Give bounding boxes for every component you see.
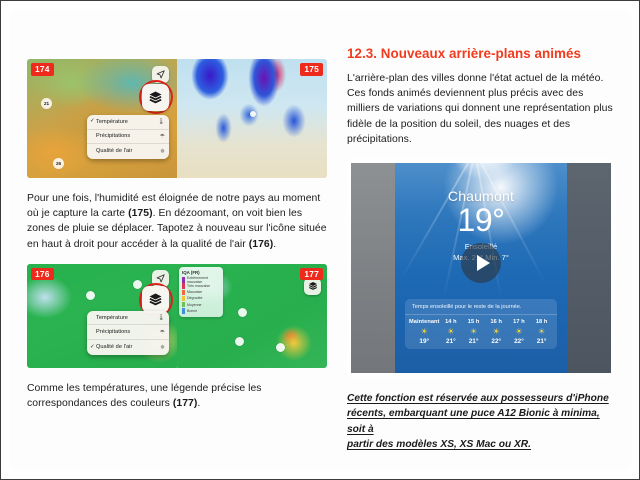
- map-temperature-panel: 21 26 ✓: [27, 59, 177, 178]
- forecast-note: Temps ensoleillé pour le reste de la jou…: [405, 304, 557, 315]
- forecast-hour-temp: 19°: [409, 338, 440, 345]
- sun-icon: ☀: [440, 325, 463, 338]
- figure-temperature-map[interactable]: 21 26 ✓: [27, 59, 327, 178]
- forecast-hour: 18 h ☀ 21°: [530, 319, 553, 345]
- page-frame: 21 26 ✓: [0, 0, 640, 480]
- play-button[interactable]: [461, 243, 501, 283]
- layers-icon: [148, 292, 163, 307]
- compatibility-note: Cette fonction est réservée aux possesse…: [347, 391, 615, 453]
- legend-swatch: [182, 290, 185, 295]
- section-intro-paragraph: L'arrière-plan des villes donne l'état a…: [347, 71, 615, 147]
- video-letterbox-right: [567, 163, 611, 373]
- forecast-hour-temp: 21°: [440, 338, 463, 345]
- figure-air-quality-map[interactable]: Température 🌡 Précipitations ☂ ✓ Qualité…: [27, 264, 327, 368]
- forecast-hour: 16 h ☀ 22°: [485, 319, 508, 345]
- layer-menu-item-precipitations[interactable]: Précipitations ☂: [87, 130, 169, 145]
- layer-menu-item-temperature[interactable]: ✓ Température 🌡: [87, 115, 169, 130]
- paragraph-text-c: .: [273, 239, 276, 250]
- legend-swatch: [182, 302, 185, 307]
- legend-swatch: [182, 277, 185, 282]
- left-column: 21 26 ✓: [27, 59, 327, 411]
- forecast-hour: Maintenant ☀ 19°: [409, 319, 440, 345]
- video-stage[interactable]: Chaumont 19° Ensoleillé Max. 21° Min. 7°…: [351, 163, 611, 373]
- forecast-hour: 14 h ☀ 21°: [440, 319, 463, 345]
- map-air-quality-panel: Température 🌡 Précipitations ☂ ✓ Qualité…: [27, 264, 177, 368]
- layer-menu-label: Qualité de l'air: [96, 344, 157, 350]
- layers-button[interactable]: [142, 286, 169, 313]
- map-pin: [235, 337, 244, 346]
- play-icon: [477, 255, 490, 271]
- sun-icon: ☀: [508, 325, 531, 338]
- layer-menu-label: Température: [96, 119, 157, 125]
- figure-ref-176: (176): [249, 239, 274, 250]
- layers-button[interactable]: [142, 84, 169, 111]
- figure-badge-175: 175: [300, 63, 323, 76]
- layer-menu-item-temperature[interactable]: Température 🌡: [87, 311, 169, 326]
- layer-menu-item-air-quality[interactable]: Qualité de l'air ✵: [87, 144, 169, 159]
- legend-entry: Extrêmement mauvaise: [182, 277, 221, 283]
- forecast-hour-temp: 22°: [485, 338, 508, 345]
- legend-swatch: [182, 283, 185, 288]
- figure-badge-177: 177: [300, 268, 323, 281]
- forecast-hour-temp: 21°: [530, 338, 553, 345]
- layer-menu-label: Qualité de l'air: [96, 148, 157, 154]
- note-line-3: partir des modèles XS, XS Mac ou XR.: [347, 439, 531, 450]
- figure-ref-177: (177): [173, 398, 198, 409]
- legend-label: Mauvaise: [187, 290, 202, 294]
- layer-menu-label: Précipitations: [96, 329, 157, 335]
- weather-temperature: 19°: [395, 202, 567, 239]
- umbrella-icon: ☂: [157, 329, 165, 336]
- note-line-2: récents, embarquant une puce A12 Bionic …: [347, 408, 600, 434]
- layer-menu[interactable]: ✓ Température 🌡 Précipitations ☂ Qualité…: [87, 115, 169, 159]
- navigation-arrow-icon: [156, 274, 165, 283]
- figure-badge-174: 174: [31, 63, 54, 76]
- map-pin: [238, 308, 247, 317]
- map-pin: [250, 111, 256, 117]
- map-temp-pin: 21: [41, 98, 52, 109]
- legend-swatch: [182, 308, 185, 313]
- sun-icon: ☀: [485, 325, 508, 338]
- legend-label: Dégradée: [187, 296, 203, 300]
- air-quality-legend: IQA (FR) Extrêmement mauvaise Très mauva…: [179, 267, 223, 317]
- forecast-hour: 15 h ☀ 21°: [462, 319, 485, 345]
- air-quality-icon: ✵: [157, 344, 165, 351]
- map-air-quality-legend-panel: IQA (FR) Extrêmement mauvaise Très mauva…: [177, 264, 327, 368]
- legend-label: Très mauvaise: [187, 284, 210, 288]
- layer-menu-item-air-quality[interactable]: ✓ Qualité de l'air ✵: [87, 340, 169, 355]
- layer-menu-item-precipitations[interactable]: Précipitations ☂: [87, 325, 169, 340]
- layers-button[interactable]: [304, 278, 321, 295]
- navigation-arrow-icon: [156, 70, 165, 79]
- map-precipitation-panel: 175: [177, 59, 327, 178]
- figure-ref-175: (175): [128, 208, 153, 219]
- layers-icon: [308, 281, 318, 291]
- legend-label: Bonne: [187, 309, 197, 313]
- legend-label: Moyenne: [187, 303, 202, 307]
- thermometer-icon: 🌡: [157, 314, 165, 321]
- forecast-hour-temp: 22°: [508, 338, 531, 345]
- right-column: 12.3. Nouveaux arrière-plans animés L'ar…: [347, 46, 615, 453]
- map-pin: [133, 280, 142, 289]
- legend-entry: Bonne: [182, 308, 221, 314]
- layer-menu-label: Précipitations: [96, 133, 157, 139]
- hourly-forecast-card: Temps ensoleillé pour le reste de la jou…: [405, 299, 557, 349]
- video-player[interactable]: Chaumont 19° Ensoleillé Max. 21° Min. 7°…: [347, 159, 615, 377]
- paragraph-legend-colors: Comme les températures, une légende préc…: [27, 381, 327, 411]
- sun-icon: ☀: [530, 325, 553, 338]
- sun-icon: ☀: [462, 325, 485, 338]
- umbrella-icon: ☂: [157, 133, 165, 140]
- map-pin: [276, 343, 285, 352]
- paragraph-capture-humidity: Pour une fois, l'humidité est éloignée d…: [27, 191, 327, 252]
- note-line-1: Cette fonction est réservée aux possesse…: [347, 393, 609, 404]
- layers-icon: [148, 90, 163, 105]
- legend-swatch: [182, 296, 185, 301]
- layer-menu[interactable]: Température 🌡 Précipitations ☂ ✓ Qualité…: [87, 311, 169, 355]
- legend-title: IQA (FR): [182, 270, 221, 275]
- legend-label: Extrêmement mauvaise: [187, 276, 221, 284]
- hourly-forecast-row[interactable]: Maintenant ☀ 19° 14 h ☀ 21° 15 h: [405, 315, 557, 349]
- map-pin: [86, 291, 95, 300]
- thermometer-icon: 🌡: [157, 118, 165, 125]
- video-letterbox-left: [351, 163, 395, 373]
- section-heading: 12.3. Nouveaux arrière-plans animés: [347, 46, 615, 62]
- coastline-overlay: [177, 59, 327, 178]
- forecast-hour: 17 h ☀ 22°: [508, 319, 531, 345]
- layer-menu-label: Température: [96, 315, 157, 321]
- figure-badge-176: 176: [31, 268, 54, 281]
- map-temp-pin: 26: [53, 158, 64, 169]
- air-quality-icon: ✵: [157, 148, 165, 155]
- sun-icon: ☀: [409, 325, 440, 338]
- forecast-hour-temp: 21°: [462, 338, 485, 345]
- paragraph-text-b: .: [197, 398, 200, 409]
- paragraph-text-a: Comme les températures, une légende préc…: [27, 383, 262, 409]
